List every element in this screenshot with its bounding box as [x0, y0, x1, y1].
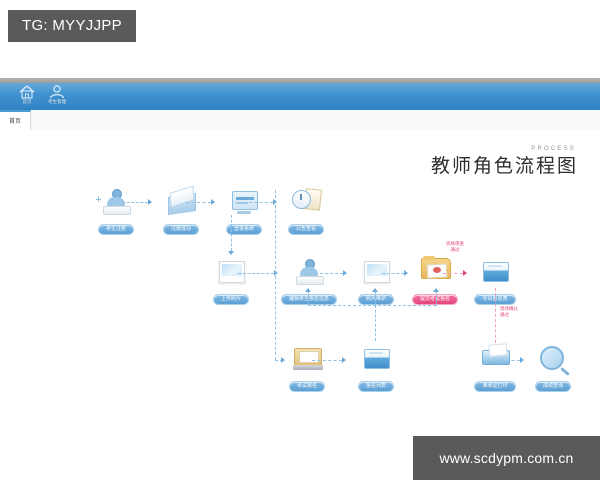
flowchart-canvas: PROCESS 教师角色流程图 + 考生注册 注册成功 登录系统	[0, 130, 600, 435]
connector-upload-to-fill	[238, 273, 274, 274]
tg-watermark-badge: TG: MYYJJPP	[8, 10, 136, 42]
app-chrome: 首页 考生管理 首页	[0, 78, 600, 130]
tab-home-label: 首页	[9, 118, 21, 126]
node-submit-exam-label: 提交考试报名	[412, 294, 458, 305]
printer-icon	[480, 344, 510, 374]
node-notice[interactable]: 公告查看	[275, 185, 337, 235]
annotation-confirm-line2: 通过	[500, 312, 548, 318]
node-submit-exam[interactable]: 提交考试报名	[404, 249, 466, 305]
user-icon	[47, 84, 67, 99]
connector-admit-to-score	[500, 360, 520, 361]
arrow-admit-to-score	[520, 357, 524, 363]
trunk-left-vertical	[275, 190, 276, 360]
node-register-label: 考生注册	[98, 224, 134, 235]
branch-to-submit-exam	[436, 291, 437, 306]
laptop-folder-icon	[292, 344, 322, 374]
page-title: 教师角色流程图	[431, 156, 578, 178]
arrow-photo-to-submit	[404, 270, 408, 276]
node-upload-photo-art	[200, 255, 262, 287]
arrow-submit-to-print	[463, 270, 467, 276]
node-register-ok-art	[150, 185, 212, 217]
node-exam-signup[interactable]: 考试报名	[276, 342, 338, 392]
connector-fill-to-photo	[315, 273, 343, 274]
arrow-ok-to-login	[211, 199, 215, 205]
list-box-icon	[361, 344, 391, 374]
photo-icon	[216, 257, 246, 287]
node-upload-photo-label: 上传照片	[213, 294, 249, 305]
arrow-fill-to-photo	[343, 270, 347, 276]
node-notice-label: 公告查看	[288, 224, 324, 235]
annotation-qualify: 资格审查 通过	[432, 241, 478, 253]
node-register-ok[interactable]: 注册成功	[150, 185, 212, 235]
top-navigation-bar: 首页 考生管理	[0, 83, 600, 111]
node-signup-list-art	[345, 342, 407, 374]
node-score-query-art	[522, 342, 584, 374]
node-upload-photo[interactable]: 上传照片	[200, 255, 262, 305]
node-photo-review-art	[345, 255, 407, 287]
node-signup-list[interactable]: 报名列表	[345, 342, 407, 392]
node-fill-info-art	[278, 255, 340, 287]
node-fill-info[interactable]: 编辑考生报名信息	[278, 255, 340, 305]
nav-item-candidate-management[interactable]: 考生管理	[34, 84, 80, 110]
node-register-art: +	[85, 185, 147, 217]
node-photo-review[interactable]: 照片维护	[345, 255, 407, 305]
node-login-art	[213, 185, 275, 217]
branch-to-photo-review	[375, 291, 376, 306]
folder-seal-icon	[420, 253, 450, 287]
node-notice-art	[275, 185, 337, 217]
node-register-ok-label: 注册成功	[163, 224, 199, 235]
node-print-form-art	[464, 255, 526, 287]
magnifier-icon	[538, 344, 568, 374]
branch-to-fill-info	[308, 291, 309, 306]
student-form-icon	[294, 257, 324, 287]
connector-notice-to-upload	[231, 215, 232, 251]
plus-icon: +	[95, 195, 101, 206]
tab-strip: 首页	[0, 110, 600, 131]
branch-list-vertical	[375, 305, 376, 341]
clock-document-icon	[291, 187, 321, 217]
connector-photo-to-submit	[382, 273, 404, 274]
branch-horizontal	[308, 305, 436, 306]
connector-register-to-ok	[122, 202, 148, 203]
connector-submit-to-print	[443, 273, 463, 274]
arrow-branch-to-photo-review	[372, 288, 378, 292]
node-exam-signup-label: 考试报名	[289, 381, 325, 392]
node-admit-card-label: 准考证打印	[474, 381, 515, 392]
arrow-signup-to-list	[342, 357, 346, 363]
node-login[interactable]: 登录系统	[213, 185, 275, 235]
nav-item-home-label: 首页	[23, 99, 32, 105]
node-admit-card-art	[464, 342, 526, 374]
diagram-title-block: PROCESS 教师角色流程图	[431, 146, 578, 178]
arrow-notice-to-upload	[228, 251, 234, 255]
arrow-branch-to-fill-info	[305, 288, 311, 292]
diagram-kicker: PROCESS	[431, 146, 576, 152]
arrow-branch-to-submit-exam	[433, 288, 439, 292]
annotation-confirm: 现场确认 通过	[500, 306, 548, 318]
node-score-query-label: 成绩查询	[535, 381, 571, 392]
site-watermark: www.scdypm.com.cn	[413, 436, 600, 480]
connector-login-to-notice	[249, 202, 273, 203]
nav-item-candidate-management-label: 考生管理	[48, 99, 66, 105]
node-score-query[interactable]: 成绩查询	[522, 342, 584, 392]
photo-maintain-icon	[361, 257, 391, 287]
node-submit-exam-art	[404, 249, 466, 287]
node-admit-card[interactable]: 准考证打印	[464, 342, 526, 392]
node-register[interactable]: + 考生注册	[85, 185, 147, 235]
arrow-trunk-to-exam-signup	[281, 357, 285, 363]
node-exam-signup-art	[276, 342, 338, 374]
tab-home[interactable]: 首页	[0, 110, 31, 131]
annotation-qualify-line2: 通过	[432, 247, 478, 253]
arrow-register-to-ok	[148, 199, 152, 205]
connector-signup-to-list	[312, 360, 342, 361]
connector-ok-to-login	[186, 202, 211, 203]
export-box-icon	[480, 257, 510, 287]
connector-print-to-admit	[495, 288, 496, 348]
node-signup-list-label: 报名列表	[358, 381, 394, 392]
